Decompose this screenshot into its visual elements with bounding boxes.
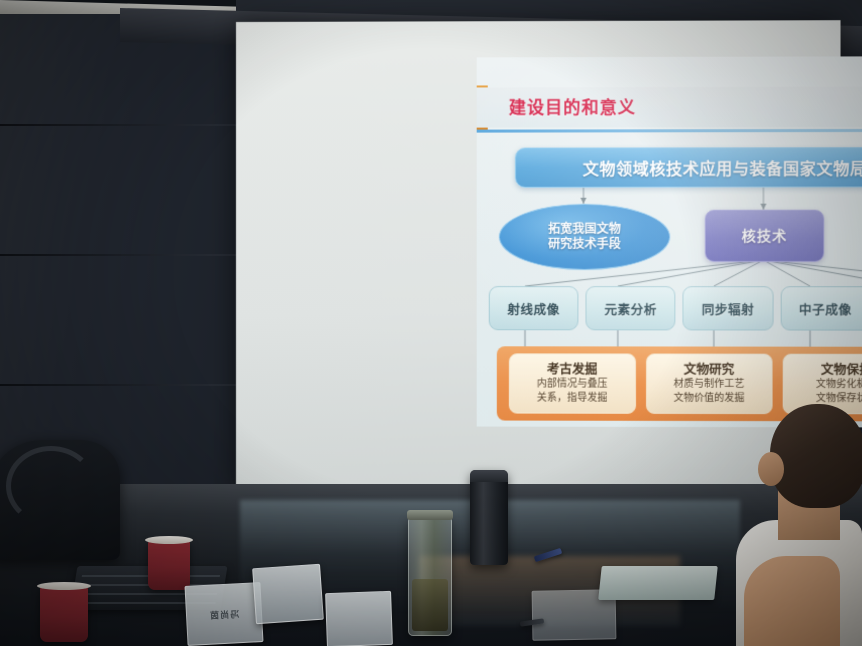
chair-armrest (6, 446, 96, 526)
thermos-cap (470, 470, 508, 482)
application-card: 文物研究 材质与制作工艺 文物价值的发掘 (646, 354, 773, 415)
application-heading: 考古发掘 (547, 363, 597, 378)
tumbler-lid (407, 510, 453, 520)
goal-node-left: 拓宽我国文物 研究技术手段 (499, 204, 670, 270)
notebook (598, 566, 718, 600)
tea-leaves (412, 579, 448, 631)
application-line: 文物价值的发掘 (674, 391, 745, 404)
attendee-ear (758, 452, 784, 486)
application-line: 文物保存状况 (816, 391, 862, 404)
technology-box: 中子成像 (780, 286, 862, 330)
application-heading: 文物研究 (684, 363, 735, 378)
paper-cup-mid (148, 540, 190, 590)
projection-screen: 建设目的和意义 (236, 20, 841, 494)
name-placard-3 (325, 591, 393, 646)
thermos-flask (470, 470, 508, 565)
attendee-arm (744, 556, 840, 646)
slide-title: 建设目的和意义 (509, 93, 636, 118)
application-card: 考古发掘 内部情况与叠压 关系，指导发掘 (509, 353, 636, 413)
core-technology-node: 核技术 (705, 210, 825, 262)
application-line: 材质与制作工艺 (674, 378, 745, 391)
conference-room-scene: 建设目的和意义 (0, 0, 862, 646)
application-heading: 文物保护 (821, 363, 862, 378)
goal-left-line1: 拓宽我国文物 (548, 222, 621, 237)
name-placard-1-text: 冯尚茵 (209, 607, 240, 622)
title-underline (477, 129, 862, 133)
technology-row: 射线成像 元素分析 同步辐射 中子成像 辐照灭菌 · · · (489, 286, 862, 331)
glass-tea-tumbler (408, 516, 452, 636)
goal-left-line2: 研究技术手段 (548, 237, 621, 252)
paper-cup-left (40, 586, 88, 642)
technology-box: 同步辐射 (683, 286, 773, 330)
left-wall (0, 14, 250, 484)
technology-box: 射线成像 (489, 286, 579, 330)
application-line: 文物劣化机理 (816, 378, 862, 391)
application-line: 内部情况与叠压 (537, 378, 608, 391)
application-line: 关系，指导发掘 (537, 391, 608, 404)
name-placard-2 (252, 564, 324, 625)
presentation-slide: 建设目的和意义 (477, 56, 862, 428)
name-placard-1: 冯尚茵 (184, 582, 263, 646)
root-node: 文物领域核技术应用与装备国家文物局重点科研基地 (515, 147, 862, 188)
technology-box: 元素分析 (586, 286, 676, 330)
attendee-head (770, 404, 862, 508)
